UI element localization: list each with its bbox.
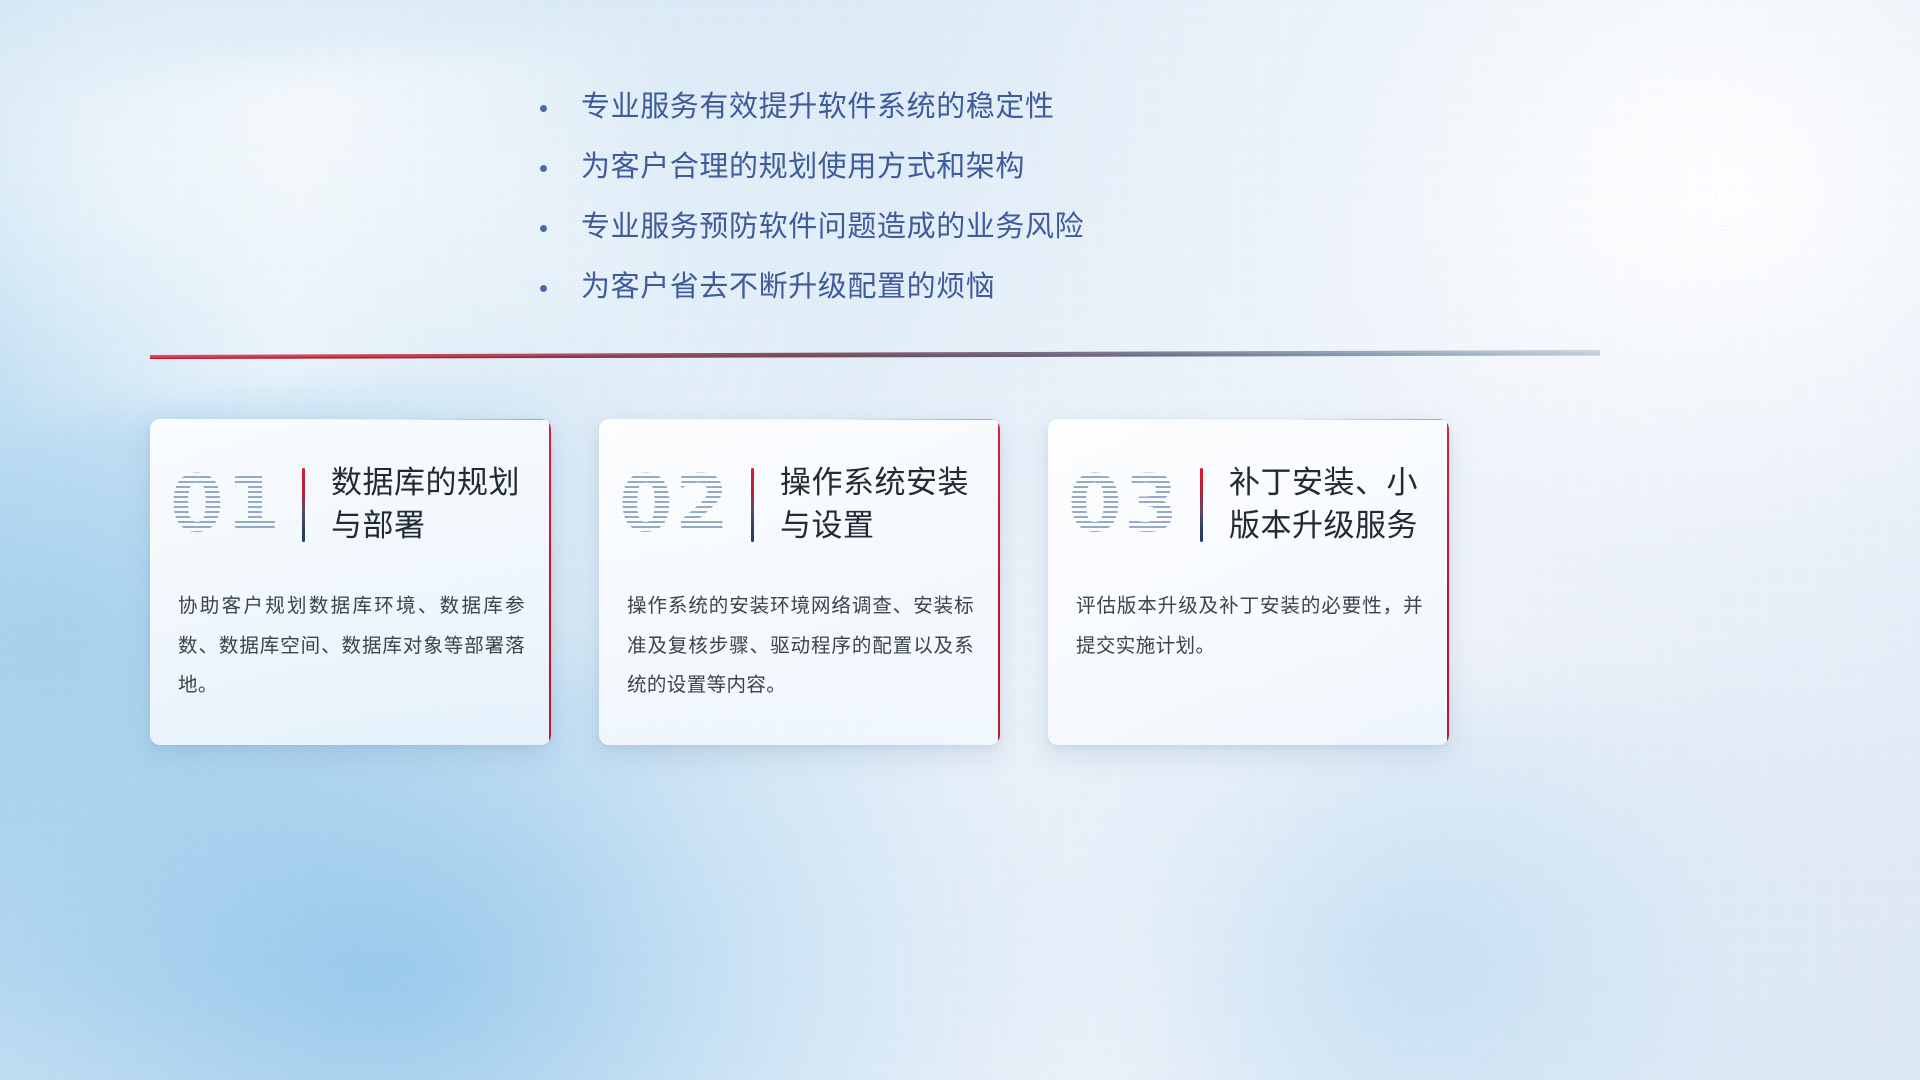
list-item: 专业服务有效提升软件系统的稳定性 [540, 88, 1260, 127]
card-header: 03 补丁安装、小版本升级服务 [1048, 441, 1449, 569]
card-description: 评估版本升级及补丁安装的必要性，并提交实施计划。 [1076, 587, 1423, 666]
section-divider [150, 346, 1600, 364]
card-header: 02 操作系统安装与设置 [599, 441, 1000, 569]
card-number-watermark: 02 [599, 466, 751, 544]
service-card-03[interactable]: 03 补丁安装、小版本升级服务 评估版本升级及补丁安装的必要性，并提交实施计划。 [1048, 419, 1449, 745]
card-number-watermark: 01 [150, 466, 302, 544]
card-accent-bar [1200, 468, 1203, 542]
card-accent-bar [302, 468, 305, 542]
card-title: 数据库的规划与部署 [331, 462, 551, 548]
bullet-text: 为客户省去不断升级配置的烦恼 [581, 268, 995, 307]
card-number-watermark: 03 [1048, 466, 1200, 544]
bullet-text: 为客户合理的规划使用方式和架构 [581, 148, 1025, 187]
bullet-dot-icon [540, 225, 547, 232]
card-header: 01 数据库的规划与部署 [150, 441, 551, 569]
list-item: 为客户合理的规划使用方式和架构 [540, 148, 1260, 187]
list-item: 为客户省去不断升级配置的烦恼 [540, 268, 1260, 307]
card-description: 操作系统的安装环境网络调查、安装标准及复核步骤、驱动程序的配置以及系统的设置等内… [627, 587, 974, 706]
service-card-list: 01 数据库的规划与部署 协助客户规划数据库环境、数据库参数、数据库空间、数据库… [150, 419, 1450, 745]
bullet-dot-icon [540, 165, 547, 172]
service-card-02[interactable]: 02 操作系统安装与设置 操作系统的安装环境网络调查、安装标准及复核步骤、驱动程… [599, 419, 1000, 745]
card-title: 操作系统安装与设置 [780, 462, 1000, 548]
benefits-bullet-list: 专业服务有效提升软件系统的稳定性 为客户合理的规划使用方式和架构 专业服务预防软… [540, 88, 1260, 329]
card-accent-bar [751, 468, 754, 542]
service-card-01[interactable]: 01 数据库的规划与部署 协助客户规划数据库环境、数据库参数、数据库空间、数据库… [150, 419, 551, 745]
bullet-dot-icon [540, 285, 547, 292]
card-title: 补丁安装、小版本升级服务 [1229, 462, 1449, 548]
bullet-dot-icon [540, 105, 547, 112]
bullet-text: 专业服务有效提升软件系统的稳定性 [581, 88, 1055, 127]
card-description: 协助客户规划数据库环境、数据库参数、数据库空间、数据库对象等部署落地。 [178, 587, 525, 706]
list-item: 专业服务预防软件问题造成的业务风险 [540, 208, 1260, 247]
bullet-text: 专业服务预防软件问题造成的业务风险 [581, 208, 1084, 247]
